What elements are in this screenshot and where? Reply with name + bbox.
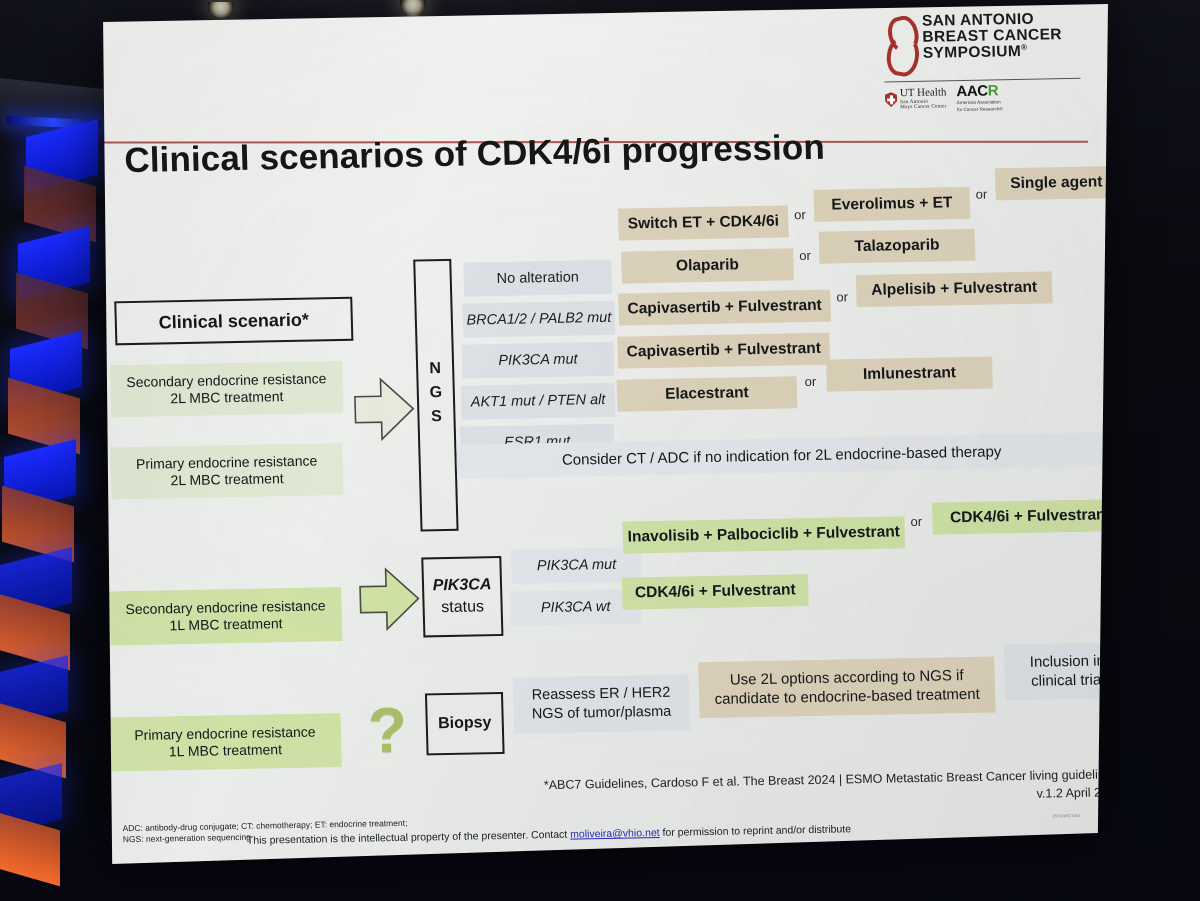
- treatment-option-imlunestrant[interactable]: Imlunestrant: [826, 356, 993, 391]
- treatment-option-label: Everolimus + ET: [831, 194, 953, 214]
- scenario-line-2: 2L MBC treatment: [170, 470, 284, 490]
- use-2l-options-box[interactable]: Use 2L options according to NGS if candi…: [698, 657, 995, 719]
- treatment-option-talazoparib[interactable]: Talazoparib: [819, 229, 976, 264]
- ngs-marker-label: AKT1 mut / PTEN alt: [471, 392, 606, 411]
- aacr-r: R: [987, 82, 998, 99]
- ut-health-center: Mays Cancer Center: [900, 104, 947, 110]
- treatment-option-label: Capivasertib + Fulvestrant: [627, 297, 822, 319]
- ngs-marker-band: AKT1 mut / PTEN alt: [461, 383, 616, 420]
- treatment-option-single-agent-et[interactable]: Single agent ET: [995, 166, 1108, 201]
- treatment-option-label: CDK4/6i + Fulvestrant: [950, 506, 1108, 527]
- slide-code: 250430GTI65: [1052, 813, 1080, 819]
- sabcs-logo: SAN ANTONIO BREAST CANCER SYMPOSIUM® UT …: [883, 11, 1082, 114]
- ribbon-icon: [883, 14, 919, 77]
- pik3ca-status-box: PIK3CA status: [421, 556, 503, 638]
- or-connector: or: [794, 207, 806, 222]
- treatment-option-everolimus[interactable]: Everolimus + ET: [813, 187, 970, 222]
- aacr-sub-1: American Association: [957, 99, 1003, 106]
- or-connector: or: [836, 289, 848, 304]
- pik3ca-marker-label: PIK3CA mut: [537, 557, 617, 575]
- arrow-to-pik3ca-icon: [358, 566, 422, 633]
- ut-health-name: UT Health: [900, 86, 947, 99]
- ngs-box-label: N G S: [416, 357, 456, 430]
- or-connector: or: [910, 514, 922, 529]
- treatment-option-label: CDK4/6i + Fulvestrant: [635, 581, 796, 602]
- treatment-option-alpelisib[interactable]: Alpelisib + Fulvestrant: [856, 271, 1053, 307]
- treatment-option-capivasertib-2[interactable]: Capivasertib + Fulvestrant: [617, 333, 830, 369]
- or-connector: or: [975, 187, 987, 202]
- or-connector: or: [804, 374, 816, 389]
- biopsy-box: Biopsy: [425, 692, 505, 755]
- clinical-trial-line-2: clinical trial: [1031, 670, 1105, 691]
- clinical-scenario-header-label: Clinical scenario*: [158, 309, 309, 333]
- treatment-option-label: Inavolisib + Palbociclib + Fulvestrant: [627, 523, 900, 546]
- scenario-line-1: Secondary endocrine resistance: [125, 597, 325, 618]
- treatment-option-label: Elacestrant: [665, 384, 749, 404]
- clinical-trial-line-1: Inclusion in: [1030, 651, 1106, 672]
- treatment-option-label: Capivasertib + Fulvestrant: [626, 340, 821, 362]
- treatment-option-olaparib[interactable]: Olaparib: [621, 248, 794, 283]
- pik3ca-marker-label: PIK3CA wt: [541, 599, 611, 616]
- scenario-box-secondary-1l[interactable]: Secondary endocrine resistance 1L MBC tr…: [109, 587, 342, 645]
- projection-screen: SAN ANTONIO BREAST CANCER SYMPOSIUM® UT …: [96, 4, 1108, 864]
- ngs-marker-band: No alteration: [463, 260, 612, 297]
- scenario-box-primary-1l[interactable]: Primary endocrine resistance 1L MBC trea…: [108, 713, 341, 771]
- reassess-line-2: NGS of tumor/plasma: [532, 703, 672, 725]
- treatment-option-label: Switch ET + CDK4/6i: [628, 213, 780, 234]
- ngs-marker-label: No alteration: [496, 269, 579, 287]
- arrow-to-ngs-icon: [352, 376, 416, 443]
- ut-health-logo: UT Health San Antonio Mays Cancer Center: [885, 87, 947, 111]
- or-connector: or: [799, 248, 811, 263]
- treatment-option-label: Single agent ET: [1010, 173, 1108, 193]
- logo-line-3: SYMPOSIUM: [923, 43, 1022, 62]
- contact-email-link[interactable]: moliveira@vhio.net: [570, 827, 660, 841]
- clinical-trial-box[interactable]: Inclusion in clinical trial: [1004, 642, 1108, 700]
- scenario-line-1: Primary endocrine resistance: [134, 723, 316, 744]
- reassess-box[interactable]: Reassess ER / HER2 NGS of tumor/plasma: [513, 674, 690, 733]
- scenario-line-1: Secondary endocrine resistance: [126, 370, 326, 391]
- pik3ca-status-line-1: PIK3CA: [432, 575, 491, 598]
- treatment-option-label: Alpelisib + Fulvestrant: [871, 279, 1037, 300]
- scenario-line-2: 1L MBC treatment: [169, 741, 283, 761]
- ngs-marker-label: PIK3CA mut: [498, 351, 578, 369]
- treatment-option-inavolisib[interactable]: Inavolisib + Palbociclib + Fulvestrant: [622, 516, 905, 553]
- shield-icon: [885, 92, 897, 107]
- ngs-marker-band: BRCA1/2 / PALB2 mut: [462, 301, 615, 338]
- pik3ca-status-line-2: status: [441, 596, 484, 618]
- reference-footnote: *ABC7 Guidelines, Cardoso F et al. The B…: [461, 766, 1108, 814]
- clinical-scenario-header: Clinical scenario*: [114, 297, 353, 346]
- logo-trademark: ®: [1021, 42, 1028, 51]
- scenario-line-2: 2L MBC treatment: [170, 388, 284, 408]
- ngs-note-label: Consider CT / ADC if no indication for 2…: [562, 443, 1002, 468]
- question-mark-icon: ?: [367, 698, 408, 763]
- treatment-option-switch-et[interactable]: Switch ET + CDK4/6i: [618, 205, 789, 240]
- treatment-option-cdk46-fulvestrant-mut[interactable]: CDK4/6i + Fulvestrant: [932, 499, 1108, 535]
- ngs-letter-g: G: [417, 381, 456, 406]
- scenario-box-secondary-2l[interactable]: Secondary endocrine resistance 2L MBC tr…: [110, 361, 343, 417]
- ngs-marker-label: BRCA1/2 / PALB2 mut: [466, 310, 611, 329]
- scenario-line-1: Primary endocrine resistance: [136, 452, 318, 473]
- treatment-option-label: Olaparib: [676, 256, 739, 275]
- treatment-option-label: Imlunestrant: [863, 364, 956, 384]
- aacr-text: AAC: [956, 83, 988, 101]
- use-2l-line-2: candidate to endocrine-based treatment: [714, 685, 980, 710]
- page-title: Clinical scenarios of CDK4/6i progressio…: [124, 128, 825, 181]
- treatment-option-capivasertib-1[interactable]: Capivasertib + Fulvestrant: [618, 290, 831, 326]
- presentation-slide: SAN ANTONIO BREAST CANCER SYMPOSIUM® UT …: [96, 4, 1108, 864]
- biopsy-label: Biopsy: [438, 714, 492, 733]
- scenario-box-primary-2l[interactable]: Primary endocrine resistance 2L MBC trea…: [110, 443, 343, 499]
- treatment-option-label: Talazoparib: [854, 236, 939, 256]
- treatment-option-elacestrant[interactable]: Elacestrant: [617, 376, 798, 411]
- scenario-line-2: 1L MBC treatment: [169, 615, 283, 635]
- aacr-sub-2: for Cancer Research®: [957, 106, 1003, 113]
- ngs-marker-band: PIK3CA mut: [462, 342, 615, 379]
- ngs-letter-s: S: [417, 405, 456, 430]
- slide-content: SAN ANTONIO BREAST CANCER SYMPOSIUM® UT …: [96, 4, 1108, 864]
- aacr-logo: AACR American Association for Cancer Res…: [956, 83, 1003, 112]
- ip-notice-suffix: for permission to reprint and/or distrib…: [659, 823, 851, 839]
- treatment-option-cdk46-fulvestrant-wt[interactable]: CDK4/6i + Fulvestrant: [622, 574, 809, 610]
- ngs-letter-n: N: [416, 357, 455, 382]
